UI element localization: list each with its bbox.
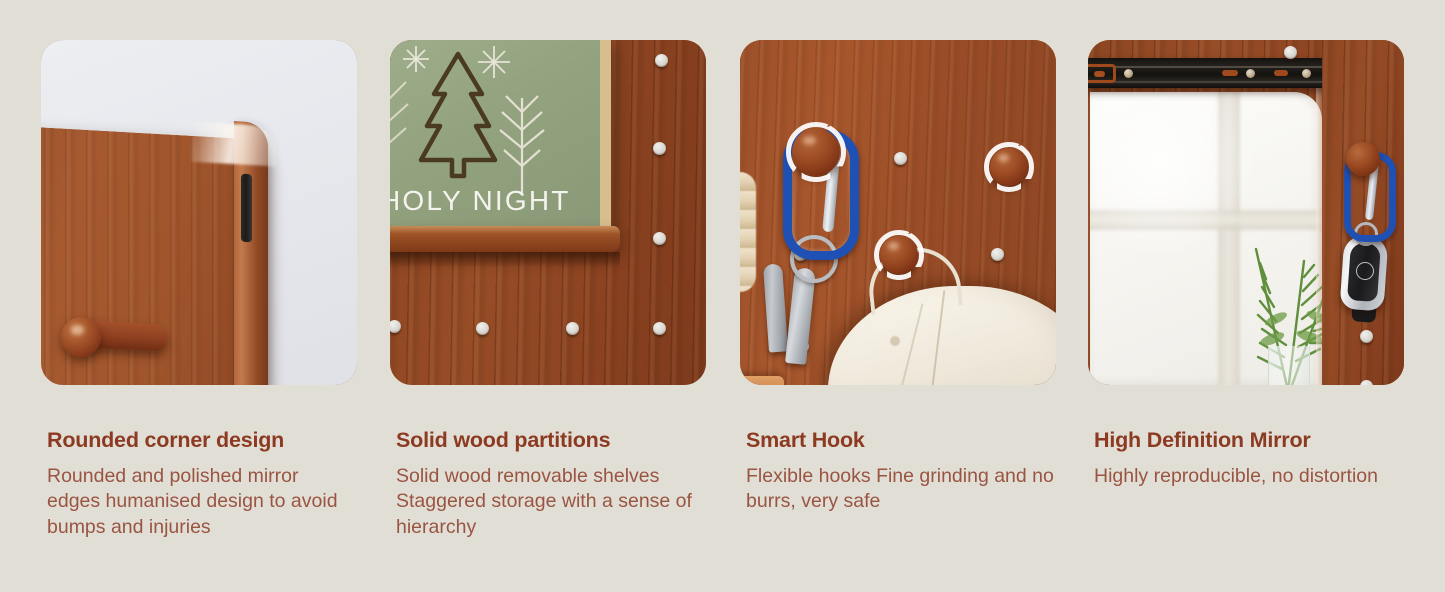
feature-image-solid-wood-partitions: HOLY NIGHT — [390, 40, 706, 385]
glass-vase — [1268, 346, 1310, 385]
feature-description: Rounded and polished mirror edges humani… — [47, 464, 357, 541]
feature-description: Highly reproducible, no distortion — [1094, 464, 1424, 490]
peg-hole — [653, 322, 666, 335]
rail-groove — [1114, 66, 1328, 68]
peg-hole — [894, 152, 907, 165]
rail-groove — [1114, 81, 1328, 83]
feature-description: Flexible hooks Fine grinding and no burr… — [746, 464, 1076, 515]
wooden-knob-hook — [792, 128, 840, 176]
edge-highlight — [191, 122, 276, 167]
wooden-knob-hook — [990, 148, 1028, 186]
mirror-surface — [1090, 92, 1322, 385]
feature-card-solid-wood-partitions: HOLY NIGHT Solid wood partitions Solid w… — [390, 40, 706, 541]
feature-card-smart-hook: Smart Hook Flexible hooks Fine grinding … — [740, 40, 1056, 515]
feature-caption: Rounded corner design Rounded and polish… — [41, 429, 357, 541]
feature-caption: Solid wood partitions Solid wood removab… — [390, 429, 706, 541]
feature-card-high-definition-mirror: High Definition Mirror Highly reproducib… — [1088, 40, 1404, 489]
feature-description: Solid wood removable shelves Staggered s… — [396, 464, 706, 541]
rail-screw — [1302, 69, 1311, 78]
feature-title: Smart Hook — [746, 429, 1056, 453]
rail-end-bracket — [1088, 64, 1116, 83]
peg-hole — [476, 322, 489, 335]
beaded-accessory — [740, 172, 756, 292]
sign-artwork: HOLY NIGHT — [390, 40, 600, 226]
wooden-peg-hook-ball — [61, 317, 101, 357]
feature-caption: Smart Hook Flexible hooks Fine grinding … — [740, 429, 1056, 515]
feature-image-rounded-corner-design — [41, 40, 357, 385]
rail-screw — [1124, 69, 1133, 78]
door-hinge — [241, 174, 252, 243]
peg-hole — [991, 248, 1004, 261]
rail-slot — [1274, 70, 1288, 76]
cap-button — [890, 336, 900, 346]
feature-title: High Definition Mirror — [1094, 429, 1404, 453]
wooden-cup — [740, 376, 784, 385]
peg-hole — [1284, 46, 1297, 59]
wooden-knob-hook — [1346, 142, 1380, 176]
feature-image-smart-hook — [740, 40, 1056, 385]
peg-hole — [655, 54, 668, 67]
feature-panels: Rounded corner design Rounded and polish… — [0, 0, 1445, 592]
peg-hole — [1360, 330, 1373, 343]
feature-image-high-definition-mirror — [1088, 40, 1404, 385]
rail-slot — [1222, 70, 1238, 76]
peg-hole — [653, 232, 666, 245]
decor-sign: HOLY NIGHT — [390, 40, 611, 237]
peg-hole — [653, 142, 666, 155]
feature-highlight-board: Rounded corner design Rounded and polish… — [0, 0, 1445, 592]
feature-card-rounded-corner-design: Rounded corner design Rounded and polish… — [41, 40, 357, 541]
wooden-knob-hook — [880, 236, 918, 274]
feature-title: Rounded corner design — [47, 429, 357, 453]
rail-screw — [1246, 69, 1255, 78]
sign-text: HOLY NIGHT — [390, 185, 571, 217]
feature-caption: High Definition Mirror Highly reproducib… — [1088, 429, 1404, 489]
shelf-shadow — [390, 252, 620, 268]
shelf-front-edge — [390, 226, 620, 233]
feature-title: Solid wood partitions — [396, 429, 706, 453]
peg-hole — [566, 322, 579, 335]
